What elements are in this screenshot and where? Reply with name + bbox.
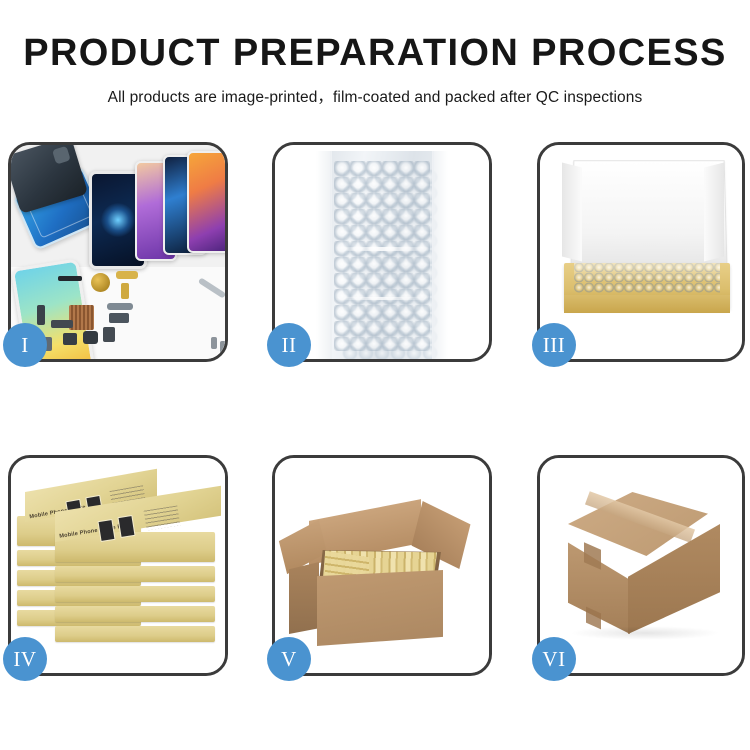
step-1-image (11, 145, 225, 359)
yellow-box-front (564, 295, 730, 313)
process-step-1: I (8, 142, 228, 362)
process-step-4: Mobile Phone Spare Parts Mobile Phone Sp… (8, 455, 228, 676)
step-badge-6: VI (532, 637, 576, 681)
stacked-box-r4 (55, 606, 215, 622)
step-2-image (275, 145, 489, 359)
process-step-2: II (272, 142, 492, 362)
carton-front-panel (317, 570, 443, 646)
box-screen-image-4 (117, 515, 135, 538)
step-badge-4: IV (3, 637, 47, 681)
stacked-box-r2 (55, 566, 215, 582)
stacked-box-r3 (55, 586, 215, 602)
bubble-pattern-back (342, 169, 438, 359)
flex-cable-2 (121, 283, 129, 299)
step-badge-3: III (532, 323, 576, 367)
step-6-image (540, 458, 742, 673)
box-lid-left-flap (562, 163, 582, 262)
contents-highlight (574, 263, 720, 293)
small-part-6 (103, 327, 115, 342)
small-part-2 (51, 320, 73, 328)
step-badge-1: I (3, 323, 47, 367)
earpiece-part (58, 276, 82, 281)
wrap-fold-line-1 (336, 247, 428, 251)
screwdriver-bit-1 (211, 337, 217, 349)
step-5-image (275, 458, 489, 673)
process-step-3: III (537, 142, 745, 362)
step-3-image (540, 145, 742, 359)
step-badge-5: V (267, 637, 311, 681)
box-screen-image-3 (97, 519, 115, 542)
step-badge-2: II (267, 323, 311, 367)
page-header: PRODUCT PREPARATION PROCESS All products… (0, 0, 750, 107)
page-subtitle: All products are image-printed，film-coat… (0, 72, 750, 107)
bubble-wrap-scene (275, 145, 489, 359)
speaker-part (91, 273, 110, 292)
small-part-1 (37, 305, 45, 325)
small-part-3 (63, 333, 77, 345)
inner-box-scene (540, 145, 742, 359)
sealed-carton-scene (540, 458, 742, 673)
box-spec-lines-2 (144, 505, 181, 530)
bubble-wrap-sheet (330, 151, 434, 359)
stacked-boxes-scene: Mobile Phone Spare Parts Mobile Phone Sp… (11, 458, 225, 673)
open-carton-scene (275, 458, 489, 673)
carton-shadow (570, 626, 720, 640)
connector-part-1 (109, 313, 129, 323)
phone-gradient (187, 151, 225, 253)
phones-and-parts-scene (11, 145, 225, 359)
flex-cable-3 (107, 303, 133, 310)
carton-side-panel (289, 562, 319, 634)
screwdriver-bit-2 (220, 341, 225, 353)
process-step-grid: I II (0, 142, 750, 682)
process-step-6: VI (537, 455, 745, 676)
wrap-fold-line-2 (336, 297, 428, 300)
flex-cable-1 (116, 271, 138, 279)
stacked-box-r5 (55, 626, 215, 642)
page-title: PRODUCT PREPARATION PROCESS (0, 34, 750, 72)
small-part-4 (83, 331, 98, 344)
box-lid-right-flap (704, 163, 724, 262)
process-step-5: V (272, 455, 492, 676)
step-4-image: Mobile Phone Spare Parts Mobile Phone Sp… (11, 458, 225, 673)
